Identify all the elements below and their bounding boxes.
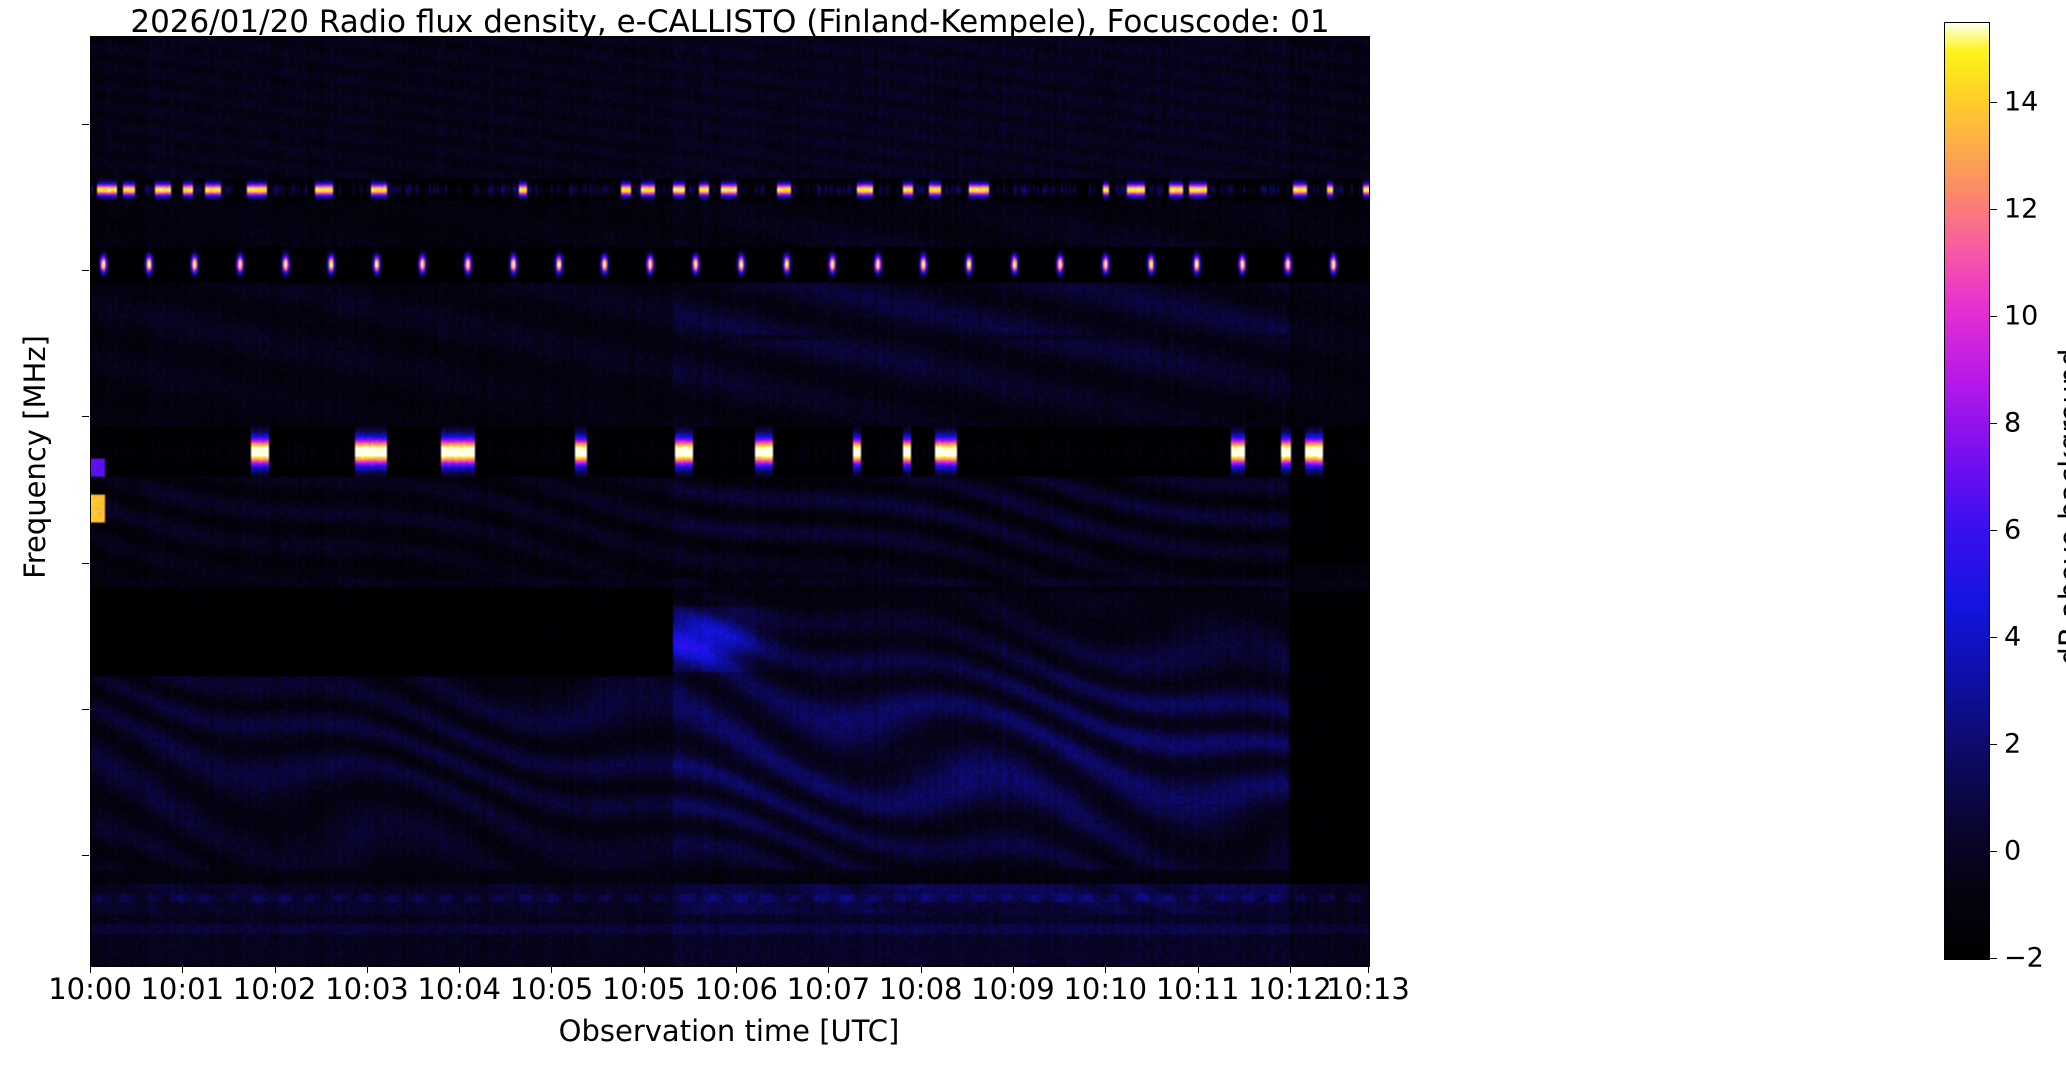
x-tick-mark [736,966,737,973]
colorbar-tick-label: 14 [2004,87,2038,118]
x-tick-mark [551,966,552,973]
x-tick-mark [1198,966,1199,973]
x-tick-label: 10:12 [1248,972,1332,1006]
x-tick-label: 10:03 [325,972,409,1006]
spectrogram-image [91,37,1369,966]
y-tick-mark [82,709,89,710]
colorbar-tick-label: 2 [2004,729,2021,760]
x-tick-mark [1013,966,1014,973]
x-tick-label: 10:02 [233,972,317,1006]
colorbar-tick-label: 12 [2004,194,2038,225]
colorbar-tick-mark [1990,209,1997,210]
colorbar-tick-label: 8 [2004,408,2021,439]
x-tick-label: 10:01 [140,972,224,1006]
y-tick-mark [82,124,89,125]
colorbar[interactable] [1944,22,1990,960]
colorbar-tick-mark [1990,316,1997,317]
x-tick-label: 10:05 [510,972,594,1006]
x-tick-label: 10:06 [694,972,778,1006]
y-axis-label: Frequency [MHz] [18,157,52,757]
x-tick-mark [182,966,183,973]
colorbar-tick-label: 0 [2004,836,2021,867]
x-tick-label: 10:07 [787,972,871,1006]
spectrogram-figure: 2026/01/20 Radio flux density, e-CALLIST… [0,0,2066,1067]
x-tick-mark [1105,966,1106,973]
colorbar-tick-label: 6 [2004,515,2021,546]
x-axis-label: Observation time [UTC] [90,1014,1368,1048]
x-tick-mark [921,966,922,973]
x-tick-mark [459,966,460,973]
y-tick-mark [82,270,89,271]
colorbar-label: dB above background [2053,207,2066,807]
x-tick-label: 10:05 [602,972,686,1006]
colorbar-tick-label: 10 [2004,301,2038,332]
x-tick-label: 10:10 [1063,972,1147,1006]
colorbar-tick-mark [1990,851,1997,852]
page-title: 2026/01/20 Radio flux density, e-CALLIST… [90,4,1370,40]
x-tick-mark [644,966,645,973]
x-tick-mark [90,966,91,973]
colorbar-gradient [1945,23,1989,959]
colorbar-tick-mark [1990,637,1997,638]
y-tick-mark [82,855,89,856]
x-tick-mark [1368,966,1369,973]
colorbar-tick-mark [1990,530,1997,531]
x-tick-mark [828,966,829,973]
x-tick-label: 10:08 [879,972,963,1006]
y-tick-mark [82,416,89,417]
colorbar-tick-mark [1990,423,1997,424]
x-tick-label: 10:13 [1326,972,1410,1006]
spectrogram-axes[interactable] [90,36,1370,967]
x-tick-label: 10:00 [48,972,132,1006]
y-tick-mark [82,563,89,564]
colorbar-tick-label: 4 [2004,622,2021,653]
x-tick-mark [1290,966,1291,973]
colorbar-tick-mark [1990,744,1997,745]
colorbar-tick-mark [1990,102,1997,103]
x-tick-label: 10:11 [1156,972,1240,1006]
x-tick-label: 10:04 [417,972,501,1006]
x-tick-mark [367,966,368,973]
x-tick-label: 10:09 [971,972,1055,1006]
colorbar-tick-label: −2 [2004,943,2044,974]
x-tick-mark [275,966,276,973]
colorbar-tick-mark [1990,958,1997,959]
